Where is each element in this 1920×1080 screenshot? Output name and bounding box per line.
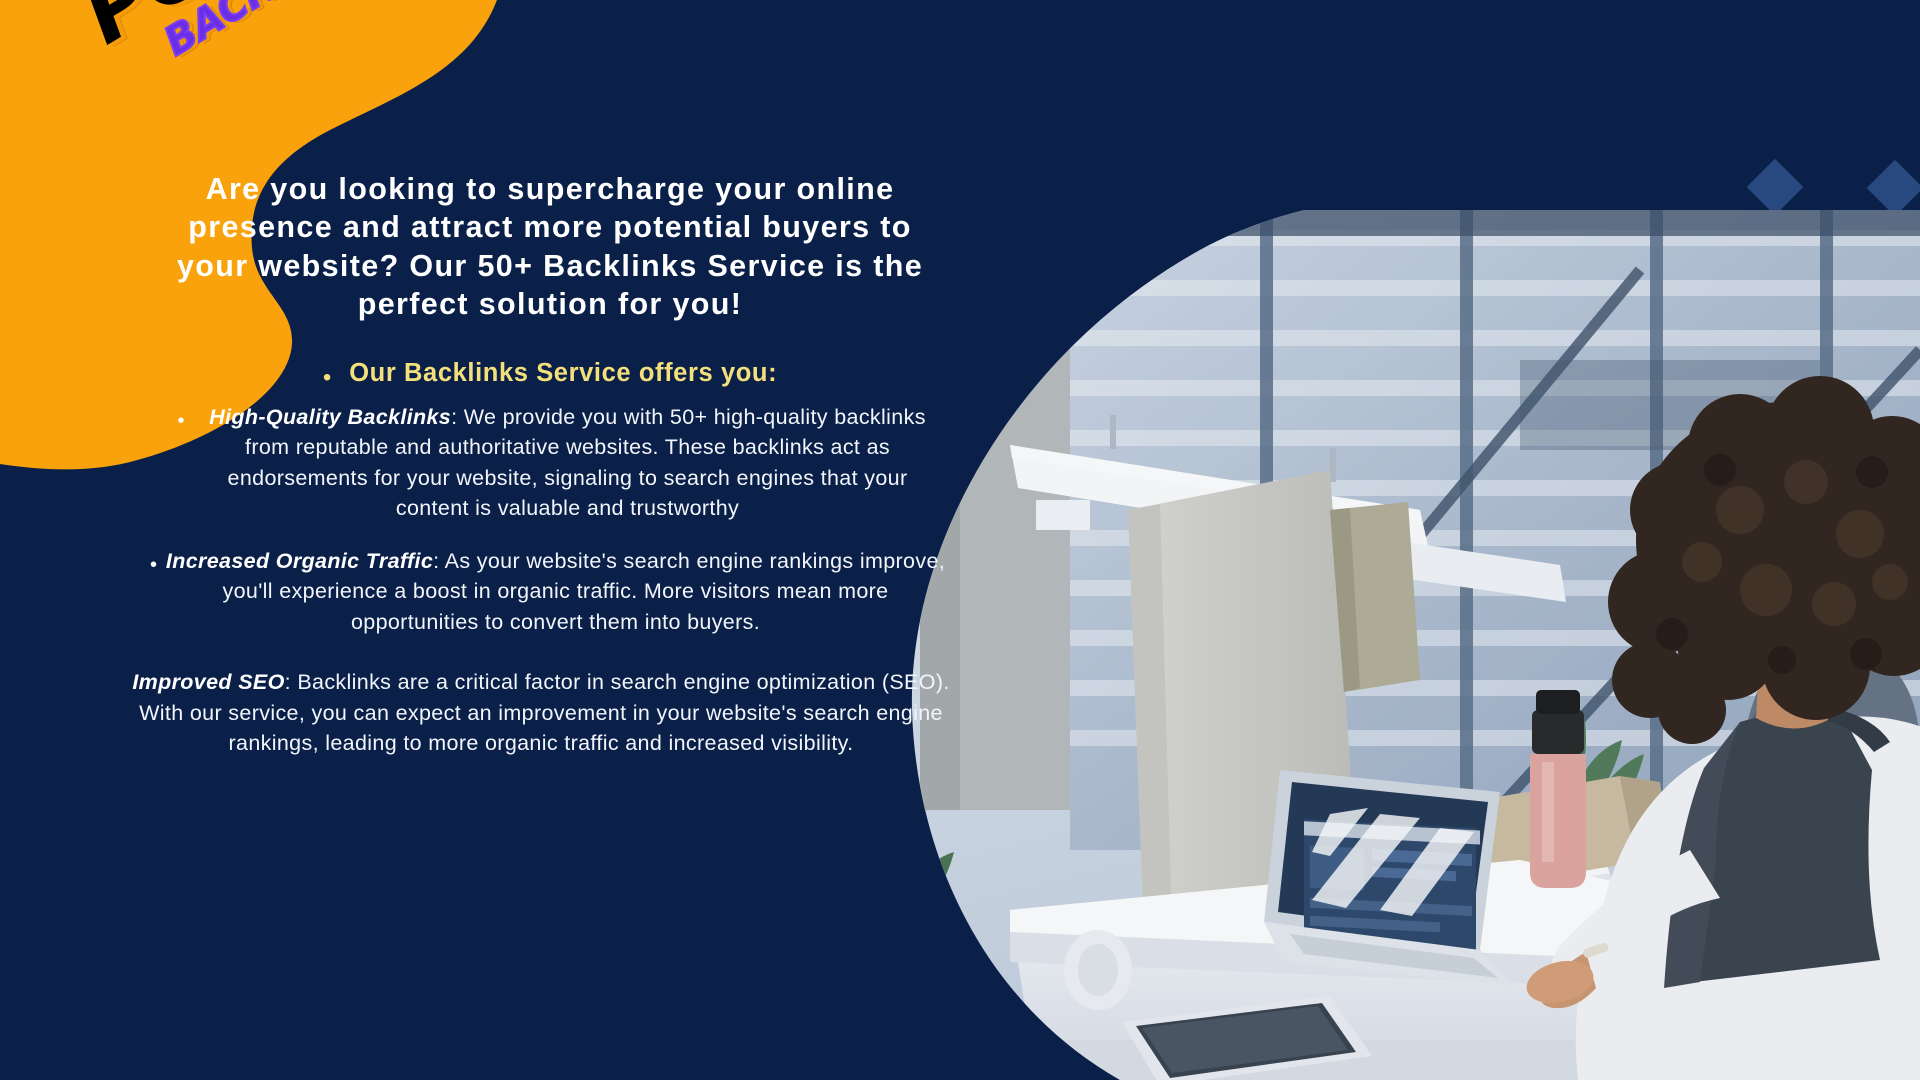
marketing-copy: Are you looking to supercharge your onli… [150, 170, 950, 763]
benefit-bullet-icon: • [150, 555, 157, 575]
office-photo-illustration [860, 210, 1920, 1080]
benefit-bullet-icon: • [177, 411, 184, 431]
benefit-lead: Improved SEO [132, 670, 284, 694]
subheading-row: • Our Backlinks Service offers you: [150, 358, 950, 390]
benefit-text: Increased Organic Traffic: As your websi… [161, 546, 950, 638]
benefit-item: • Increased Organic Traffic: As your web… [150, 546, 950, 638]
subheading-text: Our Backlinks Service offers you: [349, 358, 777, 389]
benefit-lead: High-Quality Backlinks [209, 405, 451, 429]
subheading-bullet-icon: • [323, 366, 331, 390]
benefit-item: • High-Quality Backlinks: We provide you… [150, 402, 950, 524]
benefit-lead: Increased Organic Traffic [166, 549, 433, 573]
benefit-text: High-Quality Backlinks: We provide you w… [209, 402, 927, 524]
office-photo [860, 210, 1920, 1080]
benefit-item: Improved SEO: Backlinks are a critical f… [150, 667, 950, 759]
benefit-text: Improved SEO: Backlinks are a critical f… [132, 667, 950, 759]
page-headline: Are you looking to supercharge your onli… [150, 170, 950, 324]
poster-canvas: POWER BACKLINKS SERVICE [0, 0, 1920, 1080]
diamond-decoration-1 [1747, 159, 1804, 216]
diamond-decoration-2 [1867, 160, 1920, 217]
